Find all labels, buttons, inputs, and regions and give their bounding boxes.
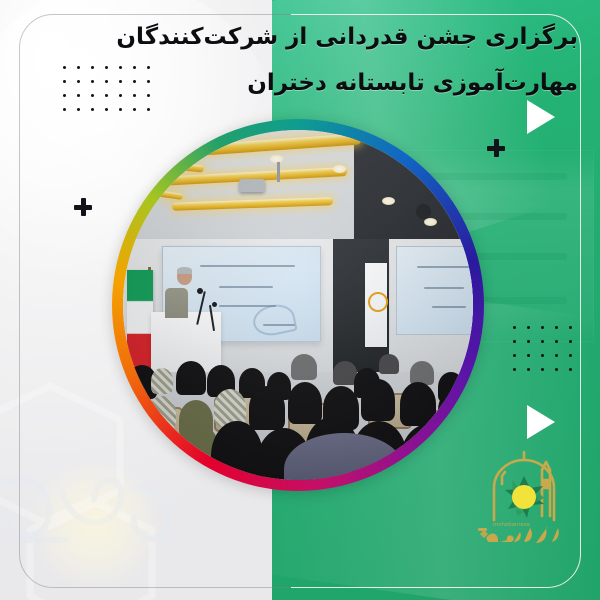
attendee [410,361,434,385]
screen-ornament [250,301,297,339]
side-monitor [396,246,473,336]
microphone-head [197,288,203,294]
poster-canvas: برگزاری جشن قدردانی از شرکت‌کنندگان مهار… [0,0,600,600]
brand-logo: mohebanreza محبان الرضا [468,442,580,554]
projector [239,179,265,192]
attendee [176,361,206,395]
title-line-1: برگزاری جشن قدردانی از شرکت‌کنندگان [118,14,578,60]
attendee [361,379,395,421]
projector-stem [277,162,280,182]
attendee [211,421,263,481]
poster-title: برگزاری جشن قدردانی از شرکت‌کنندگان مهار… [118,14,578,106]
attendee [151,368,173,394]
attendee [400,382,436,426]
photo-scene [123,130,473,480]
ceiling-dark-panel [354,130,473,239]
attendee [288,382,322,424]
attendee [291,354,317,380]
logo-latin-name: mohebanreza [493,522,530,528]
speaker-hair [177,267,192,274]
microphone-head-2 [212,302,217,307]
security-camera [416,204,431,219]
ceiling-spotlight [424,218,437,226]
organization-flag [365,263,387,347]
title-line-2: مهارت‌آموزی تابستانه دختران [118,60,578,106]
conference-hall-photo [123,130,473,480]
ceiling-spotlight [333,165,346,173]
attendee [148,396,176,430]
photo-ring [112,119,484,491]
speaker-body [165,288,188,318]
ceiling-spotlight [382,197,395,205]
attendee [379,354,399,374]
iran-flag [127,270,153,372]
attendee [249,386,285,430]
